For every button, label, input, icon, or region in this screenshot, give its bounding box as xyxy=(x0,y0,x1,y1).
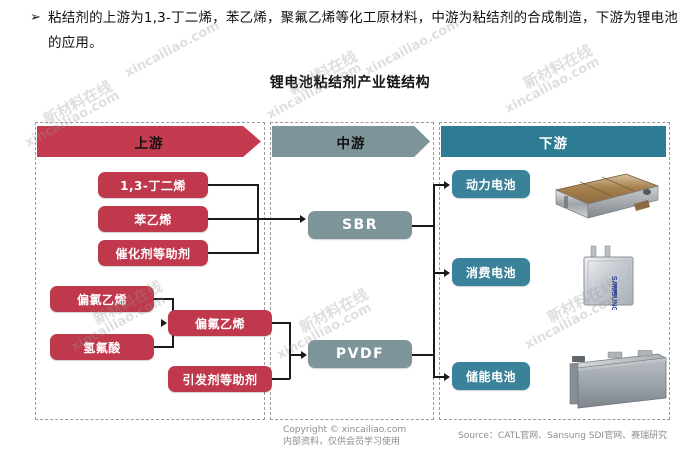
connector-sbr-out xyxy=(412,225,434,227)
battery-pack-image xyxy=(538,170,660,226)
connector-sbr-feed xyxy=(257,218,302,220)
node-initiator[interactable]: 引发剂等助剂 xyxy=(168,366,272,392)
node-butadiene[interactable]: 1,3-丁二烯 xyxy=(98,172,208,198)
pouch-cell-image: SAMSUNG SDI xyxy=(578,244,644,310)
connector-pvdf-out xyxy=(412,354,434,356)
chart-title: 锂电池粘结剂产业链结构 xyxy=(0,72,700,92)
footer-copyright: Copyright © xincailiao.com 内部资料，仅供会员学习使用 xyxy=(283,424,406,448)
storage-module-image xyxy=(566,350,670,412)
banner-midstream: 中游 xyxy=(272,126,430,157)
node-styrene[interactable]: 苯乙烯 xyxy=(98,206,208,232)
connector-vdf-out xyxy=(272,322,290,324)
connector-butadiene xyxy=(208,184,258,186)
node-pvdf[interactable]: PVDF xyxy=(308,340,412,368)
node-vinylidene-fluoride[interactable]: 偏氟乙烯 xyxy=(168,310,272,336)
slide-page: ➢ 粘结剂的上游为1,3-丁二烯，苯乙烯，聚氟乙烯等化工原材料，中游为粘结剂的合… xyxy=(0,0,700,449)
bullet-paragraph: ➢ 粘结剂的上游为1,3-丁二烯，苯乙烯，聚氟乙烯等化工原材料，中游为粘结剂的合… xyxy=(30,6,678,56)
node-vinylidene-chloride[interactable]: 偏氯乙烯 xyxy=(50,286,154,312)
connector-hf xyxy=(154,346,174,348)
arrow-to-storage-battery-icon xyxy=(444,373,450,381)
banner-downstream-label: 下游 xyxy=(539,132,568,152)
arrow-to-sbr-icon xyxy=(300,215,306,223)
arrow-to-power-battery-icon xyxy=(444,181,450,189)
banner-upstream: 上游 xyxy=(37,126,261,157)
connector-downstream-trunk xyxy=(433,184,435,376)
bullet-marker-icon: ➢ xyxy=(30,6,48,56)
node-catalyst[interactable]: 催化剂等助剂 xyxy=(98,240,208,266)
node-consumer-battery[interactable]: 消费电池 xyxy=(452,258,530,286)
connector-trunk-pvdf xyxy=(289,322,291,379)
banner-downstream: 下游 xyxy=(441,126,666,157)
arrow-to-consumer-battery-icon xyxy=(444,269,450,277)
banner-upstream-label: 上游 xyxy=(135,132,164,152)
arrow-to-vdf-icon xyxy=(161,319,167,327)
footer-copyright-line1: Copyright © xincailiao.com xyxy=(283,424,406,436)
footer-copyright-line2: 内部资料，仅供会员学习使用 xyxy=(283,436,406,448)
banner-midstream-label: 中游 xyxy=(337,132,366,152)
footer-source: Source：CATL官网、Sansung SDI官网、赛瑞研究 xyxy=(458,430,667,442)
node-power-battery[interactable]: 动力电池 xyxy=(452,170,530,198)
connector-vdc xyxy=(154,298,174,300)
panel-midstream xyxy=(270,122,434,420)
arrow-to-pvdf-icon xyxy=(301,351,307,359)
node-hydrofluoric-acid[interactable]: 氢氟酸 xyxy=(50,334,154,360)
node-sbr[interactable]: SBR xyxy=(308,211,412,239)
node-storage-battery[interactable]: 储能电池 xyxy=(452,362,530,390)
bullet-text: 粘结剂的上游为1,3-丁二烯，苯乙烯，聚氟乙烯等化工原材料，中游为粘结剂的合成制… xyxy=(48,6,678,56)
connector-catalyst xyxy=(208,252,258,254)
connector-initiator-out xyxy=(272,378,290,380)
